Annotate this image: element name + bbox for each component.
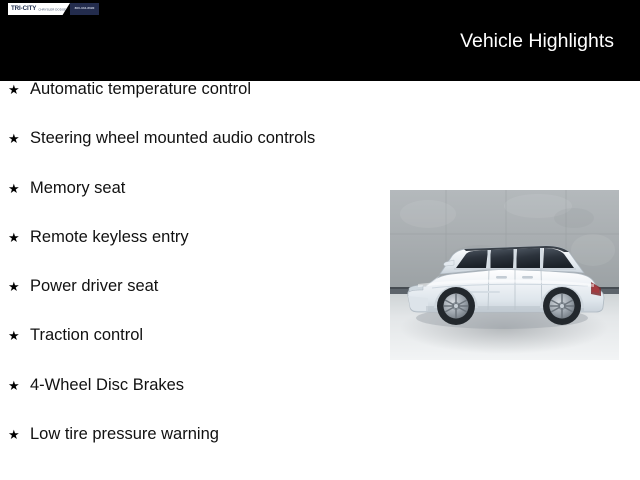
list-item-label: 4-Wheel Disc Brakes	[30, 377, 380, 394]
star-icon: ★	[8, 182, 30, 195]
list-item-label: Low tire pressure warning	[30, 426, 380, 443]
logo-phone-text: 800-342-8690	[75, 7, 95, 10]
list-item-label: Memory seat	[30, 180, 380, 197]
star-icon: ★	[8, 83, 30, 96]
star-icon: ★	[8, 329, 30, 342]
star-icon: ★	[8, 231, 30, 244]
star-icon: ★	[8, 132, 30, 145]
list-item-label: Power driver seat	[30, 278, 380, 295]
list-item-label: Steering wheel mounted audio controls	[30, 130, 380, 147]
logo-subtitle-text: CHRYSLER DODGE JEEP RAM	[38, 8, 70, 11]
vehicle-photo-image	[388, 188, 621, 362]
list-item-label: Remote keyless entry	[30, 229, 380, 246]
dealership-logo[interactable]: TRI-CITY CHRYSLER DODGE JEEP RAM 800-342…	[8, 3, 99, 15]
star-icon: ★	[8, 379, 30, 392]
list-item: ★ Automatic temperature control	[0, 81, 380, 130]
list-item-label: Traction control	[30, 327, 380, 344]
list-item: ★ Steering wheel mounted audio controls	[0, 130, 380, 179]
list-item: ★ Remote keyless entry	[0, 229, 380, 278]
page-title: Vehicle Highlights	[460, 29, 614, 53]
vehicle-photo[interactable]	[388, 188, 621, 362]
rear-wheel	[543, 287, 581, 325]
list-item-label: Automatic temperature control	[30, 81, 380, 98]
list-item: ★ Low tire pressure warning	[0, 426, 380, 475]
list-item: ★ Traction control	[0, 327, 380, 376]
star-icon: ★	[8, 428, 30, 441]
list-item: ★ 4-Wheel Disc Brakes	[0, 377, 380, 426]
star-icon: ★	[8, 280, 30, 293]
list-item: ★ Power driver seat	[0, 278, 380, 327]
logo-nameplate: TRI-CITY CHRYSLER DODGE JEEP RAM	[8, 3, 70, 15]
list-item: ★ Memory seat	[0, 180, 380, 229]
vehicle-highlights-list: ★ Automatic temperature control ★ Steeri…	[0, 81, 380, 475]
page-header: TRI-CITY CHRYSLER DODGE JEEP RAM 800-342…	[0, 0, 640, 81]
logo-name-text: TRI-CITY	[11, 6, 36, 12]
logo-phone-badge: 800-342-8690	[70, 3, 99, 15]
front-wheel	[437, 287, 475, 325]
